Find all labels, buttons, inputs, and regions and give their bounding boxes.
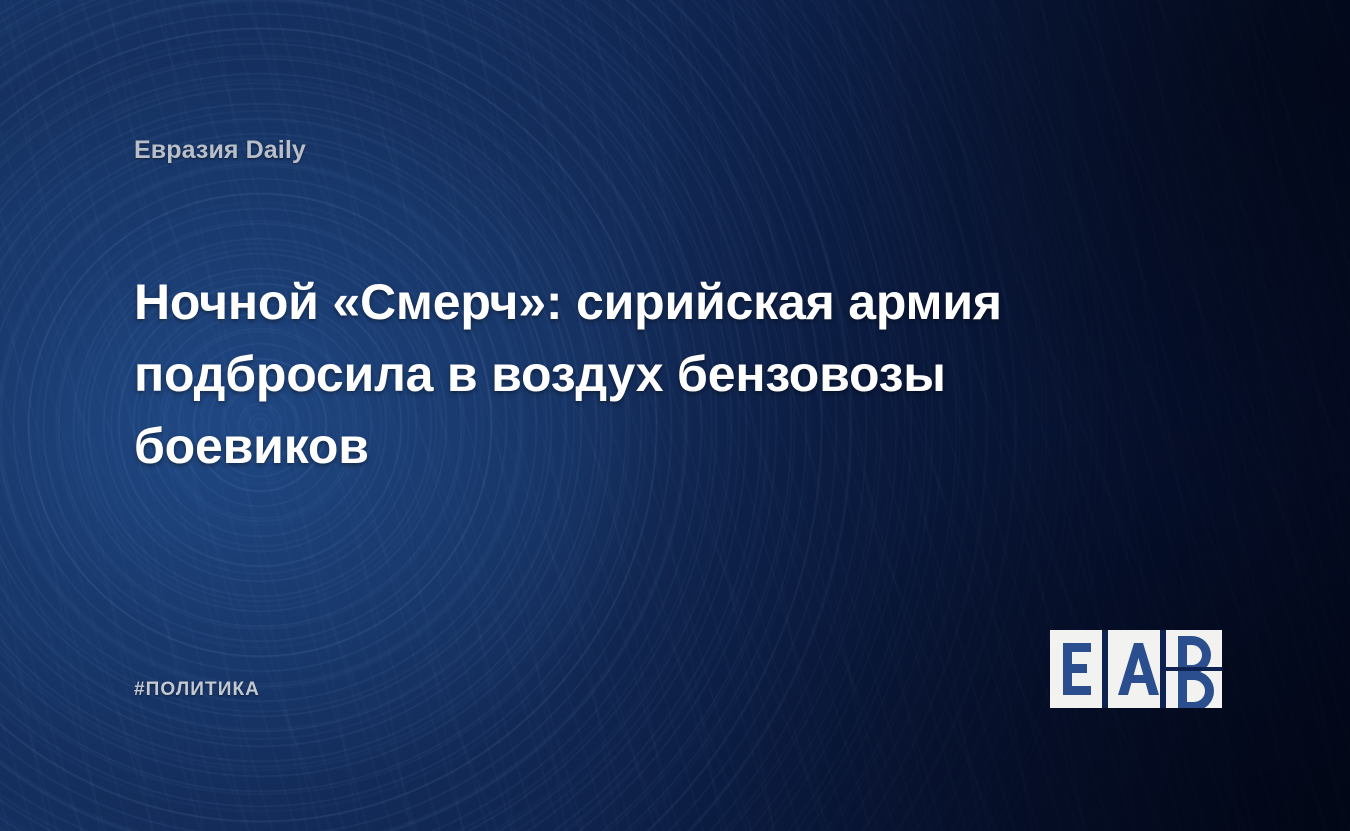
eadaily-logo [1050, 630, 1222, 708]
site-name: Евразия Daily [134, 136, 306, 165]
category-hashtag: #ПОЛИТИКА [134, 679, 260, 701]
news-share-card: Евразия Daily Ночной «Смерч»: сирийская … [0, 0, 1350, 831]
card-content: Евразия Daily Ночной «Смерч»: сирийская … [0, 0, 1350, 831]
page-title: Ночной «Смерч»: сирийская армия подброси… [134, 266, 1094, 482]
